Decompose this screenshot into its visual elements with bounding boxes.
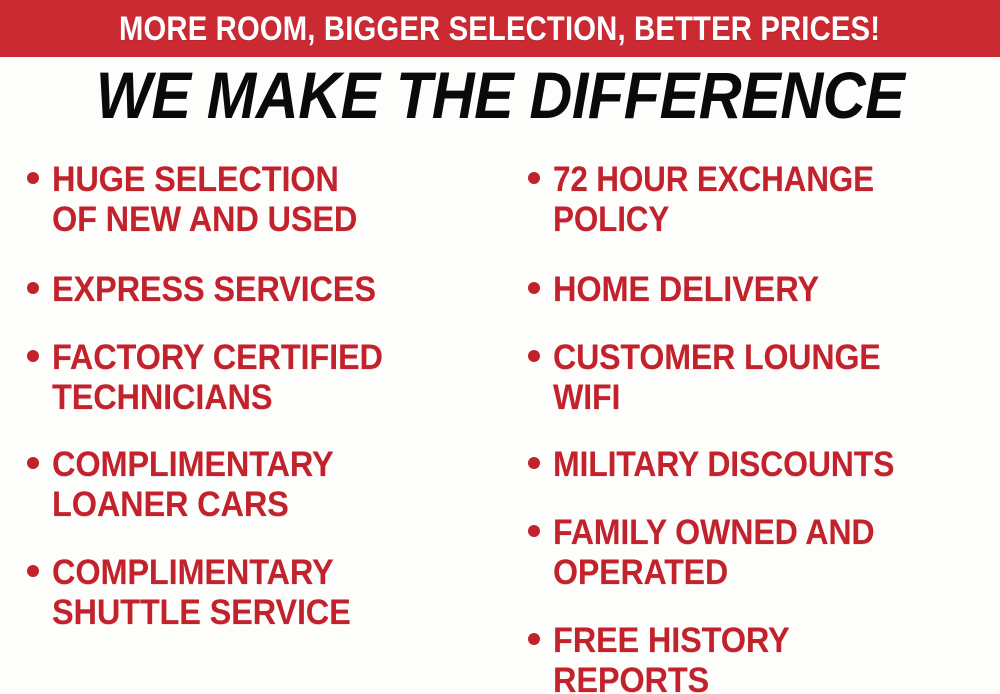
bullet-dot-icon bbox=[528, 172, 540, 184]
top-banner-text: MORE ROOM, BIGGER SELECTION, BETTER PRIC… bbox=[119, 12, 880, 46]
list-item-label: FAMILY OWNED AND OPERATED bbox=[553, 513, 964, 593]
benefits-columns: HUGE SELECTION OF NEW AND USED EXPRESS S… bbox=[0, 160, 1000, 694]
list-item-label: COMPLIMENTARY LOANER CARS bbox=[52, 445, 473, 525]
benefits-column-left: HUGE SELECTION OF NEW AND USED EXPRESS S… bbox=[0, 160, 505, 660]
bullet-dot-icon bbox=[27, 172, 39, 184]
list-item-label: FREE HISTORY REPORTS bbox=[553, 621, 969, 694]
list-item-label: FACTORY CERTIFIED TECHNICIANS bbox=[52, 338, 473, 418]
bullet-dot-icon bbox=[528, 282, 540, 294]
bullet-dot-icon bbox=[27, 565, 39, 577]
list-item: CUSTOMER LOUNGE WIFI bbox=[523, 338, 1000, 418]
list-item-label: MILITARY DISCOUNTS bbox=[553, 445, 962, 485]
list-item: HOME DELIVERY bbox=[523, 270, 1000, 310]
list-item-label: HUGE SELECTION OF NEW AND USED bbox=[52, 160, 473, 240]
headline-block: WE MAKE THE DIFFERENCE bbox=[0, 62, 1000, 128]
list-item-label: CUSTOMER LOUNGE WIFI bbox=[553, 338, 964, 418]
promo-banner: MORE ROOM, BIGGER SELECTION, BETTER PRIC… bbox=[0, 0, 1000, 694]
bullet-dot-icon bbox=[27, 282, 39, 294]
top-banner-strip: MORE ROOM, BIGGER SELECTION, BETTER PRIC… bbox=[0, 0, 1000, 57]
bullet-dot-icon bbox=[528, 525, 540, 537]
bullet-dot-icon bbox=[27, 350, 39, 362]
list-item-label: 72 HOUR EXCHANGE POLICY bbox=[553, 160, 955, 240]
list-item: FREE HISTORY REPORTS bbox=[523, 621, 1000, 694]
bullet-dot-icon bbox=[528, 350, 540, 362]
list-item: COMPLIMENTARY SHUTTLE SERVICE bbox=[22, 553, 505, 633]
list-item: HUGE SELECTION OF NEW AND USED bbox=[22, 160, 505, 240]
bullet-dot-icon bbox=[27, 457, 39, 469]
list-item: COMPLIMENTARY LOANER CARS bbox=[22, 445, 505, 525]
list-item: EXPRESS SERVICES bbox=[22, 270, 505, 310]
list-item-label: EXPRESS SERVICES bbox=[52, 270, 473, 310]
list-item: FAMILY OWNED AND OPERATED bbox=[523, 513, 1000, 593]
list-item-label: COMPLIMENTARY SHUTTLE SERVICE bbox=[52, 553, 473, 633]
list-item: 72 HOUR EXCHANGE POLICY bbox=[523, 160, 1000, 240]
benefits-column-right: 72 HOUR EXCHANGE POLICY HOME DELIVERY CU… bbox=[505, 160, 1000, 694]
page-title: WE MAKE THE DIFFERENCE bbox=[96, 62, 905, 128]
list-item-label: HOME DELIVERY bbox=[553, 270, 969, 310]
bullet-dot-icon bbox=[528, 633, 540, 645]
bullet-dot-icon bbox=[528, 457, 540, 469]
list-item: FACTORY CERTIFIED TECHNICIANS bbox=[22, 338, 505, 418]
list-item: MILITARY DISCOUNTS bbox=[523, 445, 1000, 485]
